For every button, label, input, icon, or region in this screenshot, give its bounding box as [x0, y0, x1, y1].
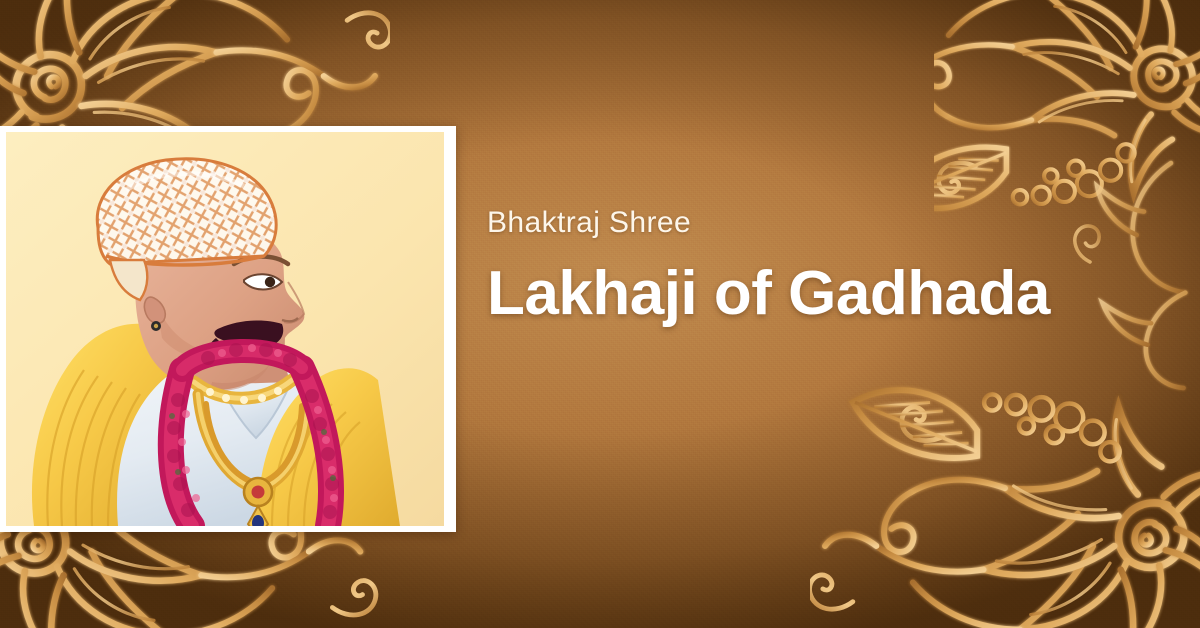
portrait-frame [0, 126, 456, 532]
portrait-image [6, 132, 444, 526]
banner-card: Bhaktraj Shree Lakhaji of Gadhada [0, 0, 1200, 628]
title-block: Bhaktraj Shree Lakhaji of Gadhada [487, 206, 1127, 326]
eyebrow-label: Bhaktraj Shree [487, 206, 1127, 239]
portrait-illustration [6, 132, 444, 526]
page-title: Lakhaji of Gadhada [487, 261, 1127, 326]
